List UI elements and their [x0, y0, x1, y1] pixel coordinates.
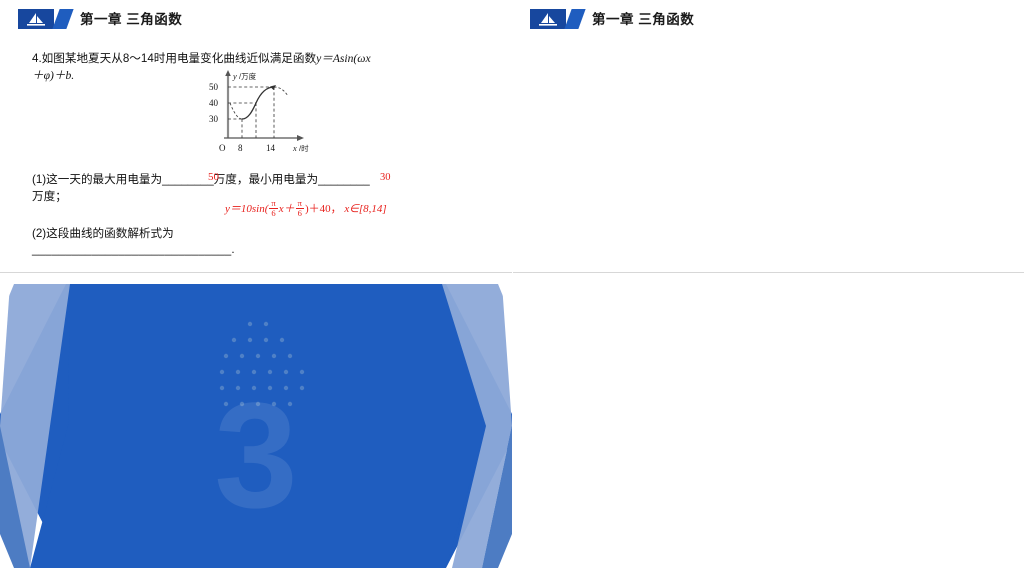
frac2-denominator: 6: [296, 208, 304, 218]
frac2-numerator: π: [296, 199, 304, 208]
header-slash-accent: [564, 9, 585, 29]
chapter-title: 第一章 三角函数: [592, 8, 694, 28]
part1-text-c: 万度；: [32, 190, 67, 203]
svg-text:40: 40: [209, 98, 219, 108]
frac1-denominator: 6: [269, 208, 277, 218]
svg-text:30: 30: [209, 114, 219, 124]
ghost-section-number: 3: [0, 380, 512, 530]
svg-text:O: O: [219, 143, 226, 153]
sailboat-icon: [18, 9, 54, 29]
slide-thanks: 新 课 标 导 学 谢谢观看 数学必修④·人教A版: [512, 284, 1024, 568]
slide-header: 第一章 三角函数: [512, 0, 1024, 38]
panel-divider: [512, 0, 513, 568]
answer-max-usage: 50: [208, 171, 219, 183]
part1-blank-2: ________: [318, 173, 370, 186]
header-slash-accent: [52, 9, 73, 29]
svg-text:14: 14: [266, 143, 276, 153]
slide-grid: 第一章 三角函数 4.如图某地夏天从8～14时用电量变化曲线近似满足函数y＝As…: [0, 0, 1024, 568]
svg-text:8: 8: [238, 143, 243, 153]
slide-bottom-rule: [0, 272, 512, 273]
frac1-numerator: π: [269, 199, 277, 208]
answer-analytic-expression: y＝10sin(π6x＋π6)＋40， x∈[8,14]: [225, 200, 387, 219]
svg-text:y: y: [232, 71, 237, 81]
question-stem-line1: 4.如图某地夏天从8～14时用电量变化曲线近似满足函数: [32, 52, 316, 65]
part1-text-b: 万度，最小用电量为: [214, 173, 318, 186]
formula-domain: x∈[8,14]: [344, 203, 386, 215]
question-part2-blank: ______________________________.: [32, 242, 484, 259]
formula-fraction-1: π6: [269, 199, 277, 218]
question-stem-math1: y＝Asin(ωx: [316, 52, 371, 65]
formula-mid: x＋: [279, 203, 295, 215]
slide-header: 第一章 三角函数: [0, 0, 512, 38]
part1-text-a: (1)这一天的最大用电量为: [32, 173, 162, 186]
slide-question: 第一章 三角函数 4.如图某地夏天从8～14时用电量变化曲线近似满足函数y＝As…: [0, 0, 512, 284]
slide-solution: 第一章 三角函数 [解析] 由图知， b＝40， A＝10， ω＝2πT＝2π2…: [512, 0, 1024, 284]
svg-text:x: x: [292, 143, 297, 153]
electricity-usage-chart: y /万度 x /时 50 40 30 O 8 14: [200, 68, 315, 156]
slide-section-divider: 3 第一章 三角函数 课时作业学案: [0, 284, 512, 568]
svg-text:/万度: /万度: [239, 71, 257, 81]
svg-text:/时: /时: [299, 143, 309, 153]
formula-fraction-2: π6: [296, 199, 304, 218]
sailboat-icon: [530, 9, 566, 29]
formula-tail: )＋40，: [305, 203, 342, 215]
chapter-title: 第一章 三角函数: [80, 8, 182, 28]
answer-min-usage: 30: [380, 172, 391, 183]
slide-bottom-rule: [512, 272, 1024, 273]
question-stem-line2: ＋φ)＋b.: [32, 69, 74, 82]
question-part2: (2)这段曲线的函数解析式为: [32, 226, 484, 243]
part1-blank-1: ________: [162, 173, 214, 186]
formula-lead: y＝10sin(: [225, 203, 268, 215]
svg-text:50: 50: [209, 82, 219, 92]
